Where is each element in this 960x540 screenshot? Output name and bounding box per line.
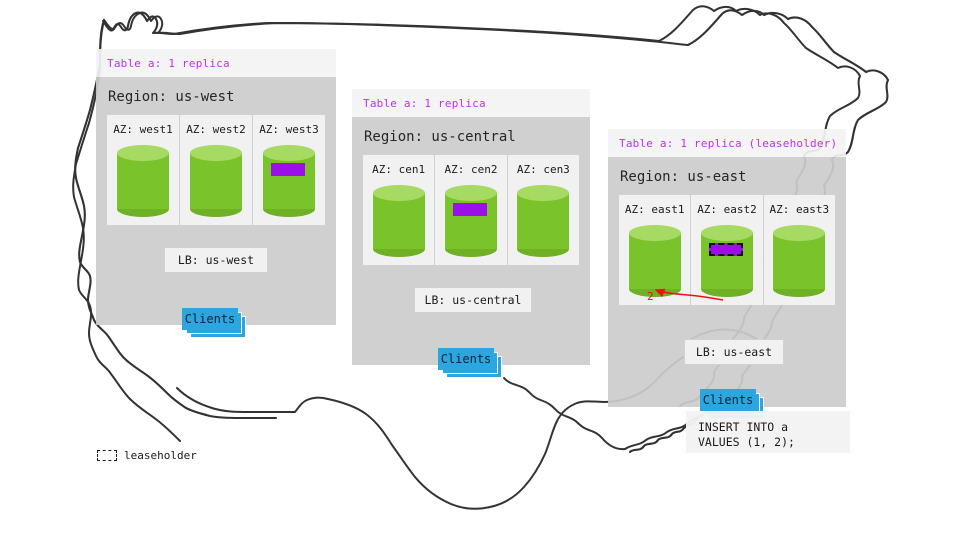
clients-button-us-central[interactable]: Clients — [438, 348, 506, 378]
node-cylinder-cen1[interactable] — [373, 185, 425, 257]
node-cylinder-west2[interactable] — [190, 145, 242, 217]
cylinder-body — [629, 233, 681, 289]
diagram-canvas: Table a: 1 replica Region: us-west AZ: w… — [0, 0, 960, 540]
leaseholder-swatch-icon — [97, 450, 117, 461]
az-cell-west1[interactable]: AZ: west1 — [107, 115, 179, 225]
lb-label-us-east: LB: us-east — [696, 345, 772, 359]
cylinder-top — [190, 145, 242, 161]
az-label-cen2: AZ: cen2 — [435, 163, 506, 176]
cylinder-top — [517, 185, 569, 201]
lb-label-us-central: LB: us-central — [425, 293, 522, 307]
panel-header-us-west: Table a: 1 replica — [96, 49, 336, 77]
clients-label-us-west[interactable]: Clients — [182, 308, 238, 330]
az-label-west2: AZ: west2 — [180, 123, 252, 136]
cylinder-top — [773, 225, 825, 241]
az-label-west1: AZ: west1 — [107, 123, 179, 136]
panel-body-us-central: Region: us-central AZ: cen1 AZ: cen2 — [352, 117, 590, 365]
node-cylinder-west1[interactable] — [117, 145, 169, 217]
cylinder-body — [517, 193, 569, 249]
clients-button-us-west[interactable]: Clients — [182, 308, 250, 338]
node-cylinder-cen3[interactable] — [517, 185, 569, 257]
panel-body-us-west: Region: us-west AZ: west1 AZ: west2 — [96, 77, 336, 325]
node-cylinder-east1[interactable] — [629, 225, 681, 297]
node-cylinder-cen2[interactable] — [445, 185, 497, 257]
az-cell-west2[interactable]: AZ: west2 — [179, 115, 252, 225]
cylinder-body — [190, 153, 242, 209]
az-label-east2: AZ: east2 — [691, 203, 762, 216]
az-strip-us-east: AZ: east1 AZ: east2 — [619, 195, 835, 305]
cylinder-body — [263, 153, 315, 209]
load-balancer-us-central[interactable]: LB: us-central — [414, 287, 532, 313]
region-panel-us-east: Table a: 1 replica (leaseholder) Region:… — [608, 129, 846, 407]
load-balancer-us-west[interactable]: LB: us-west — [164, 247, 268, 273]
region-panel-us-central: Table a: 1 replica Region: us-central AZ… — [352, 89, 590, 365]
cylinder-body — [117, 153, 169, 209]
az-cell-west3[interactable]: AZ: west3 — [252, 115, 325, 225]
az-strip-us-west: AZ: west1 AZ: west2 AZ — [107, 115, 325, 225]
az-label-cen3: AZ: cen3 — [508, 163, 579, 176]
region-title-us-west: Region: us-west — [96, 77, 336, 115]
clients-label-us-east[interactable]: Clients — [700, 389, 756, 411]
az-label-cen1: AZ: cen1 — [363, 163, 434, 176]
node-cylinder-west3[interactable] — [263, 145, 315, 217]
replica-block-west3[interactable] — [271, 163, 305, 176]
region-panel-us-west: Table a: 1 replica Region: us-west AZ: w… — [96, 49, 336, 325]
replica-block-east2-leaseholder[interactable] — [709, 243, 743, 256]
az-strip-us-central: AZ: cen1 AZ: cen2 — [363, 155, 579, 265]
az-cell-east2[interactable]: AZ: east2 — [690, 195, 762, 305]
az-cell-east3[interactable]: AZ: east3 — [763, 195, 835, 305]
az-label-east1: AZ: east1 — [619, 203, 690, 216]
arrow-step-label-2: 2 — [647, 290, 654, 303]
cylinder-body — [701, 233, 753, 289]
cylinder-top — [701, 225, 753, 241]
lb-label-us-west: LB: us-west — [178, 253, 254, 267]
sql-statement-box: INSERT INTO a VALUES (1, 2); — [686, 411, 850, 453]
node-cylinder-east2[interactable] — [701, 225, 753, 297]
region-title-us-east: Region: us-east — [608, 157, 846, 195]
az-label-west3: AZ: west3 — [253, 123, 325, 136]
node-cylinder-east3[interactable] — [773, 225, 825, 297]
az-cell-cen2[interactable]: AZ: cen2 — [434, 155, 506, 265]
cylinder-top — [629, 225, 681, 241]
replica-block-cen2[interactable] — [453, 203, 487, 216]
legend-leaseholder: leaseholder — [97, 449, 197, 462]
cylinder-top — [445, 185, 497, 201]
cylinder-top — [373, 185, 425, 201]
az-cell-east1[interactable]: AZ: east1 — [619, 195, 690, 305]
az-cell-cen3[interactable]: AZ: cen3 — [507, 155, 579, 265]
panel-header-us-central: Table a: 1 replica — [352, 89, 590, 117]
panel-header-us-east: Table a: 1 replica (leaseholder) — [608, 129, 846, 157]
legend-label: leaseholder — [124, 449, 197, 462]
cylinder-body — [445, 193, 497, 249]
cylinder-body — [373, 193, 425, 249]
cylinder-body — [773, 233, 825, 289]
az-label-east3: AZ: east3 — [764, 203, 835, 216]
cylinder-top — [263, 145, 315, 161]
region-title-us-central: Region: us-central — [352, 117, 590, 155]
clients-label-us-central[interactable]: Clients — [438, 348, 494, 370]
cylinder-top — [117, 145, 169, 161]
load-balancer-us-east[interactable]: LB: us-east — [684, 339, 784, 365]
panel-body-us-east: Region: us-east AZ: east1 AZ: east2 — [608, 157, 846, 407]
az-cell-cen1[interactable]: AZ: cen1 — [363, 155, 434, 265]
